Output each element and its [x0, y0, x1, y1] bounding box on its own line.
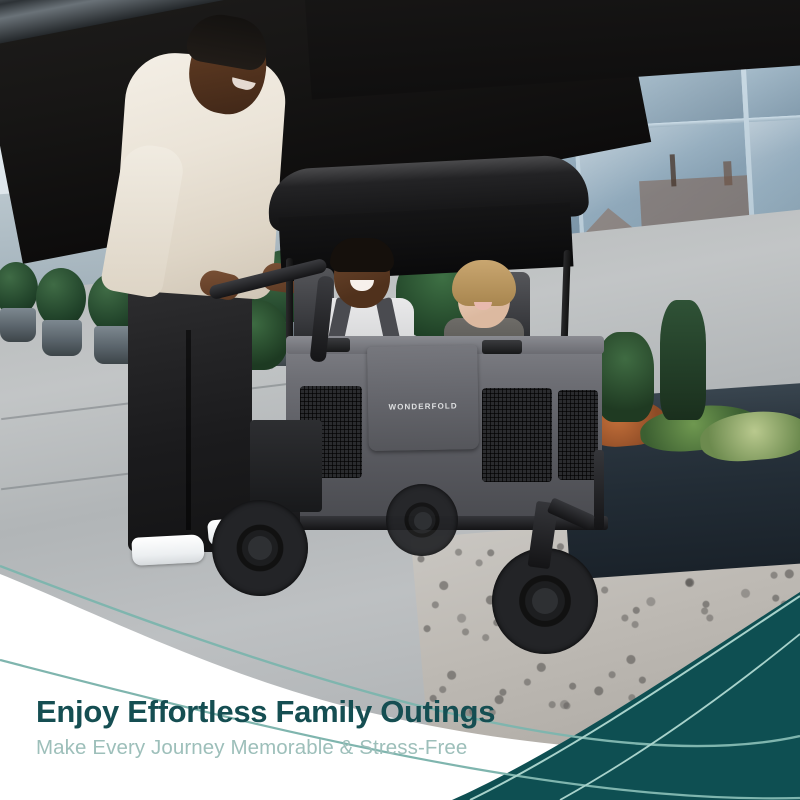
banner-subheadline: Make Every Journey Memorable & Stress-Fr…: [36, 735, 676, 762]
wagon-mesh-center: [482, 388, 552, 482]
planter-pot: [42, 320, 82, 356]
banner-text-block: Enjoy Effortless Family Outings Make Eve…: [36, 695, 676, 762]
topiary-shrub: [36, 268, 86, 328]
child-right-hair: [452, 260, 516, 306]
wagon-buckle-right: [482, 340, 522, 354]
wagon-front-flap: WONDERFOLD: [367, 345, 479, 451]
planter-pot: [0, 308, 36, 342]
banner-canvas: WONDERFOLD: [0, 0, 800, 800]
wagon-mesh-right: [558, 390, 598, 480]
child-left-hair: [330, 238, 394, 272]
banner-headline: Enjoy Effortless Family Outings: [36, 695, 676, 730]
wonderfold-logo: WONDERFOLD: [368, 401, 478, 412]
planter-foliage: [660, 300, 706, 420]
wagon-storage-basket: [250, 420, 322, 512]
